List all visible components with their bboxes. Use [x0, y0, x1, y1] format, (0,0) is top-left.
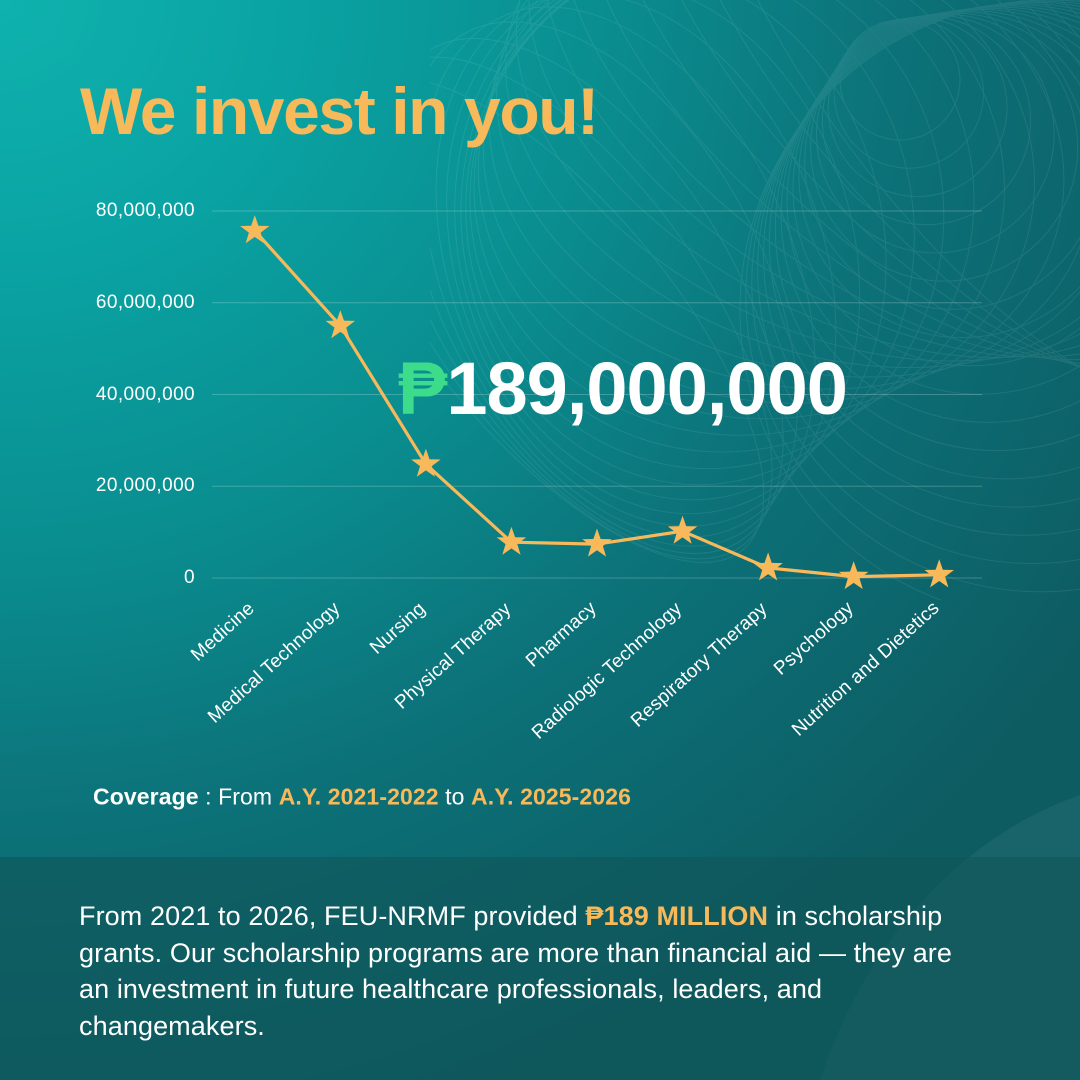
description-part-one: From 2021 to 2026, FEU-NRMF provided [79, 901, 585, 931]
total-amount-callout: ₱189,000,000 [398, 352, 847, 426]
y-axis-tick-4: 0 [65, 567, 195, 589]
total-amount-value: 189,000,000 [446, 347, 847, 430]
y-axis-tick-0: 80,000,000 [65, 200, 195, 222]
coverage-to-word: to [439, 784, 471, 810]
coverage-separator: : [199, 784, 218, 810]
description-paragraph: From 2021 to 2026, FEU-NRMF provided ₱18… [79, 898, 969, 1045]
peso-sign-icon: ₱ [398, 347, 446, 430]
coverage-start-ay: A.Y. 2021-2022 [279, 784, 439, 810]
coverage-line: Coverage : From A.Y. 2021-2022 to A.Y. 2… [93, 784, 631, 811]
y-axis-tick-3: 20,000,000 [65, 475, 195, 497]
infographic-poster: We invest in you! 80,000,00060,000,00040… [0, 0, 1080, 1080]
description-highlight: ₱189 MILLION [585, 901, 768, 931]
y-axis-tick-1: 60,000,000 [65, 292, 195, 314]
scholarship-line-chart: 80,000,00060,000,00040,000,00020,000,000… [0, 0, 1080, 620]
coverage-label: Coverage [93, 784, 199, 810]
coverage-from-word: From [218, 784, 279, 810]
coverage-end-ay: A.Y. 2025-2026 [471, 784, 631, 810]
y-axis-tick-2: 40,000,000 [65, 384, 195, 406]
